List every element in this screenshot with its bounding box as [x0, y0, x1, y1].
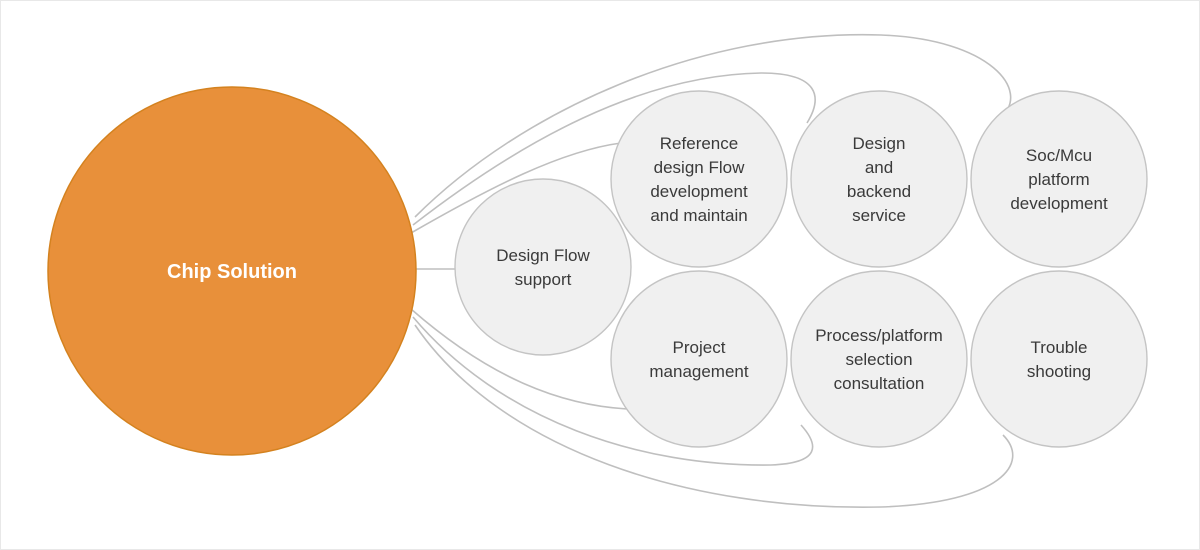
- label-line: selection: [845, 350, 912, 369]
- label-line: management: [649, 362, 749, 381]
- circle-design-flow-support[interactable]: [455, 179, 631, 355]
- label-line: development: [1010, 194, 1108, 213]
- label-line: shooting: [1027, 362, 1091, 381]
- hub-node-group: Chip Solution: [48, 87, 416, 455]
- circle-design-and-backend-service[interactable]: [791, 91, 967, 267]
- label-line: Process/platform: [815, 326, 943, 345]
- label-line: Design Flow: [496, 246, 590, 265]
- label-line: service: [852, 206, 906, 225]
- label-line: Reference: [660, 134, 738, 153]
- label-line: and maintain: [650, 206, 747, 225]
- circle-trouble-shooting[interactable]: [971, 271, 1147, 447]
- hub-label-chip-solution: Chip Solution: [167, 261, 297, 283]
- label-line: support: [515, 270, 572, 289]
- hub-and-spoke-diagram: Design FlowsupportReferencedesign Flowde…: [1, 1, 1200, 550]
- label-line: Project: [673, 338, 726, 357]
- label-line: backend: [847, 182, 911, 201]
- label-line: consultation: [834, 374, 925, 393]
- label-line: platform: [1028, 170, 1089, 189]
- label-line: Soc/Mcu: [1026, 146, 1092, 165]
- diagram-canvas: Design FlowsupportReferencedesign Flowde…: [0, 0, 1200, 550]
- node-project-management[interactable]: Projectmanagement: [611, 271, 787, 447]
- label-line: and: [865, 158, 893, 177]
- circle-reference-design-flow-development-and-maintain[interactable]: [611, 91, 787, 267]
- leaf-nodes-group: Design FlowsupportReferencedesign Flowde…: [455, 91, 1147, 447]
- node-soc-mcu-platform-development[interactable]: Soc/Mcuplatformdevelopment: [971, 91, 1147, 267]
- node-design-and-backend-service[interactable]: Designandbackendservice: [791, 91, 967, 267]
- node-reference-design-flow-development-and-maintain[interactable]: Referencedesign Flowdevelopmentand maint…: [611, 91, 787, 267]
- label-line: development: [650, 182, 748, 201]
- label-line: Design: [853, 134, 906, 153]
- node-process-platform-selection-consultation[interactable]: Process/platformselectionconsultation: [791, 271, 967, 447]
- node-trouble-shooting[interactable]: Troubleshooting: [971, 271, 1147, 447]
- node-design-flow-support[interactable]: Design Flowsupport: [455, 179, 631, 355]
- circle-project-management[interactable]: [611, 271, 787, 447]
- label-line: Trouble: [1030, 338, 1087, 357]
- label-line: design Flow: [654, 158, 745, 177]
